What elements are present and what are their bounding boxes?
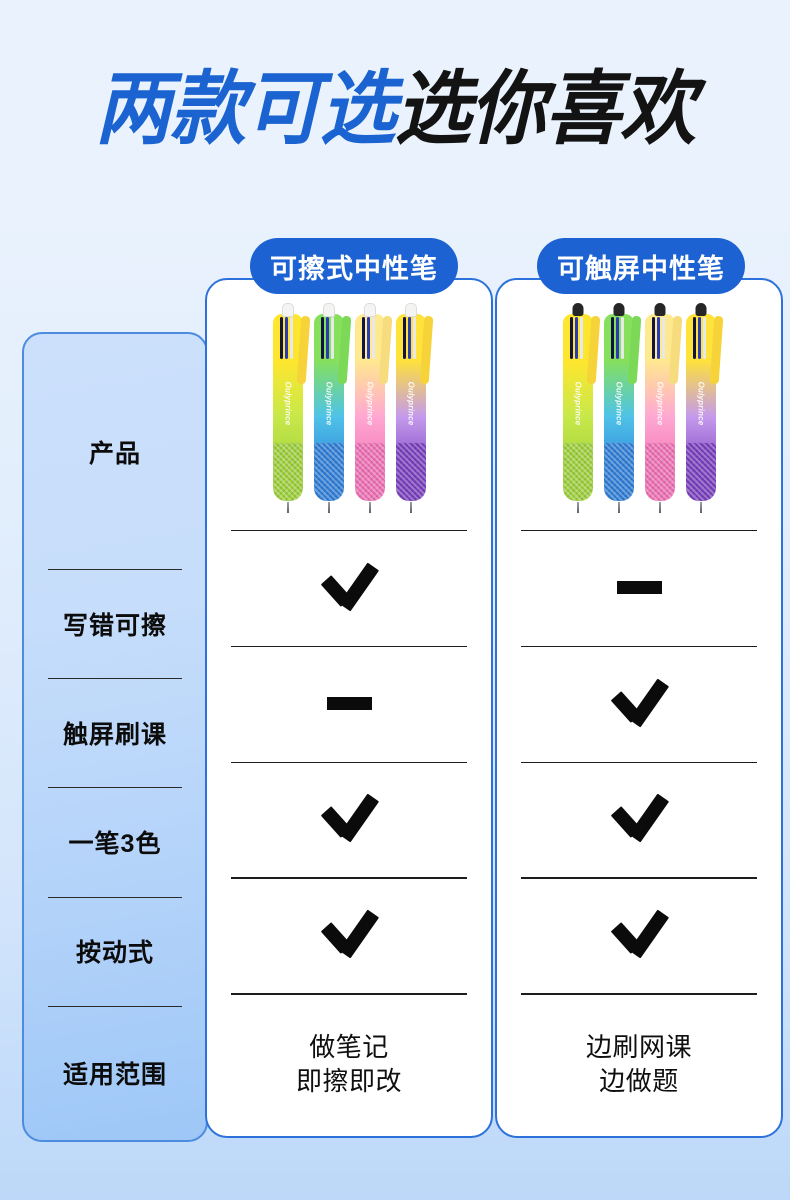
- title-rest: 选你喜欢: [395, 70, 695, 151]
- pen-writing-tip: [287, 502, 289, 513]
- pen-ink-cartridge: [652, 317, 655, 359]
- pen-brand-logo: Oulyprince: [696, 381, 705, 425]
- pen-ink-cartridge: [662, 317, 665, 359]
- stylus-tip-icon: [695, 303, 706, 316]
- pen-illustration: Oulyprince: [396, 303, 426, 513]
- infographic-page: 两款可选选你喜欢 产品写错可擦触屏刷课一笔3色按动式适用范围 Oulyprinc…: [0, 0, 790, 1200]
- push-button-icon: [282, 303, 294, 317]
- push-button-icon: [323, 303, 335, 317]
- feature-mark-row: [207, 877, 491, 993]
- pen-writing-tip: [369, 502, 371, 513]
- feature-mark-row: [497, 762, 781, 878]
- feature-label-row: 适用范围: [24, 1006, 206, 1140]
- pen-ink-cartridge: [698, 317, 701, 359]
- product-image-row: OulyprinceOulyprinceOulyprinceOulyprince: [497, 280, 781, 530]
- pen-ink-cartridge: [290, 317, 293, 359]
- pen-grip: [563, 443, 593, 501]
- pen-ink-cartridges: [321, 317, 336, 359]
- pen-ink-cartridge: [326, 317, 329, 359]
- pen-ink-cartridge: [657, 317, 660, 359]
- badge-stylus[interactable]: 可触屏中性笔: [537, 238, 745, 294]
- pen-group: OulyprinceOulyprinceOulyprinceOulyprince: [563, 297, 716, 513]
- pen-brand-logo: Oulyprince: [365, 381, 374, 425]
- badge-label: 可触屏中性笔: [557, 247, 725, 286]
- pen-illustration: Oulyprince: [645, 303, 675, 513]
- pen-ink-cartridge: [408, 317, 411, 359]
- pen-ink-cartridge: [580, 317, 583, 359]
- pen-grip: [686, 443, 716, 501]
- dash-icon: [617, 581, 662, 594]
- pen-illustration: Oulyprince: [563, 303, 593, 513]
- usage-text: 做笔记即擦即改: [296, 1031, 402, 1098]
- pen-ink-cartridge: [321, 317, 324, 359]
- title-highlight: 两款可选: [95, 70, 395, 151]
- pen-ink-cartridges: [652, 317, 667, 359]
- pen-brand-logo: Oulyprince: [573, 381, 582, 425]
- feature-label-text: 写错可擦: [63, 606, 167, 642]
- feature-label-rows: 产品写错可擦触屏刷课一笔3色按动式适用范围: [24, 334, 206, 1140]
- pen-group: OulyprinceOulyprinceOulyprinceOulyprince: [273, 297, 426, 513]
- feature-mark-row: [207, 646, 491, 762]
- pen-ink-cartridge: [616, 317, 619, 359]
- pen-grip: [314, 443, 344, 501]
- feature-label-text: 适用范围: [63, 1055, 167, 1091]
- feature-mark-row: [497, 877, 781, 993]
- feature-mark-row: [497, 646, 781, 762]
- feature-label-text: 触屏刷课: [63, 715, 167, 751]
- pen-brand-logo: Oulyprince: [614, 381, 623, 425]
- pen-grip: [273, 443, 303, 501]
- pen-brand-logo: Oulyprince: [406, 381, 415, 425]
- badge-erasable[interactable]: 可擦式中性笔: [250, 238, 458, 294]
- feature-label-row: 按动式: [24, 897, 206, 1006]
- feature-label-panel: 产品写错可擦触屏刷课一笔3色按动式适用范围: [22, 332, 208, 1142]
- usage-row: 边刷网课边做题: [497, 993, 781, 1136]
- pen-grip: [604, 443, 634, 501]
- check-icon: [608, 909, 670, 961]
- page-title: 两款可选选你喜欢: [0, 72, 790, 148]
- pen-grip: [355, 443, 385, 501]
- pen-ink-cartridge: [331, 317, 334, 359]
- usage-row: 做笔记即擦即改: [207, 993, 491, 1136]
- pen-ink-cartridge: [372, 317, 375, 359]
- stylus-tip-icon: [572, 303, 583, 316]
- pen-ink-cartridge: [362, 317, 365, 359]
- pen-brand-logo: Oulyprince: [283, 381, 292, 425]
- feature-mark-row: [207, 530, 491, 646]
- product-card-rows: OulyprinceOulyprinceOulyprinceOulyprince…: [497, 280, 781, 1136]
- pen-illustration: Oulyprince: [314, 303, 344, 513]
- product-image-row: OulyprinceOulyprinceOulyprinceOulyprince: [207, 280, 491, 530]
- pen-writing-tip: [659, 502, 661, 513]
- feature-label-row: 产品: [24, 334, 206, 569]
- pen-brand-logo: Oulyprince: [655, 381, 664, 425]
- feature-label-row: 触屏刷课: [24, 678, 206, 787]
- feature-label-text: 按动式: [76, 933, 154, 969]
- pen-illustration: Oulyprince: [355, 303, 385, 513]
- check-icon: [318, 909, 380, 961]
- pen-writing-tip: [618, 502, 620, 513]
- pen-brand-logo: Oulyprince: [324, 381, 333, 425]
- pen-grip: [396, 443, 426, 501]
- product-card-stylus[interactable]: OulyprinceOulyprinceOulyprinceOulyprince…: [495, 278, 783, 1138]
- pen-illustration: Oulyprince: [604, 303, 634, 513]
- check-icon: [318, 562, 380, 614]
- feature-label-row: 写错可擦: [24, 569, 206, 678]
- pen-ink-cartridges: [362, 317, 377, 359]
- pen-ink-cartridge: [367, 317, 370, 359]
- feature-label-row: 一笔3色: [24, 787, 206, 896]
- pen-writing-tip: [700, 502, 702, 513]
- product-card-rows: OulyprinceOulyprinceOulyprinceOulyprince…: [207, 280, 491, 1136]
- feature-label-text: 一笔3色: [69, 824, 162, 860]
- push-button-icon: [405, 303, 417, 317]
- pen-ink-cartridge: [285, 317, 288, 359]
- pen-ink-cartridge: [575, 317, 578, 359]
- product-card-erasable[interactable]: OulyprinceOulyprinceOulyprinceOulyprince…: [205, 278, 493, 1138]
- usage-text: 边刷网课边做题: [586, 1031, 692, 1098]
- stylus-tip-icon: [654, 303, 665, 316]
- push-button-icon: [364, 303, 376, 317]
- pen-ink-cartridge: [693, 317, 696, 359]
- pen-ink-cartridges: [280, 317, 295, 359]
- check-icon: [608, 678, 670, 730]
- pen-writing-tip: [410, 502, 412, 513]
- pen-illustration: Oulyprince: [273, 303, 303, 513]
- pen-ink-cartridge: [403, 317, 406, 359]
- pen-writing-tip: [328, 502, 330, 513]
- pen-grip: [645, 443, 675, 501]
- feature-label-text: 产品: [89, 434, 141, 470]
- stylus-tip-icon: [613, 303, 624, 316]
- pen-ink-cartridges: [611, 317, 626, 359]
- feature-mark-row: [497, 530, 781, 646]
- pen-ink-cartridges: [570, 317, 585, 359]
- pen-ink-cartridge: [611, 317, 614, 359]
- pen-ink-cartridge: [621, 317, 624, 359]
- pen-illustration: Oulyprince: [686, 303, 716, 513]
- feature-mark-row: [207, 762, 491, 878]
- pen-ink-cartridges: [693, 317, 708, 359]
- check-icon: [608, 793, 670, 845]
- badge-label: 可擦式中性笔: [270, 247, 438, 286]
- pen-ink-cartridge: [570, 317, 573, 359]
- pen-ink-cartridge: [280, 317, 283, 359]
- dash-icon: [327, 697, 372, 710]
- pen-ink-cartridge: [703, 317, 706, 359]
- pen-writing-tip: [577, 502, 579, 513]
- pen-ink-cartridges: [403, 317, 418, 359]
- check-icon: [318, 793, 380, 845]
- pen-ink-cartridge: [413, 317, 416, 359]
